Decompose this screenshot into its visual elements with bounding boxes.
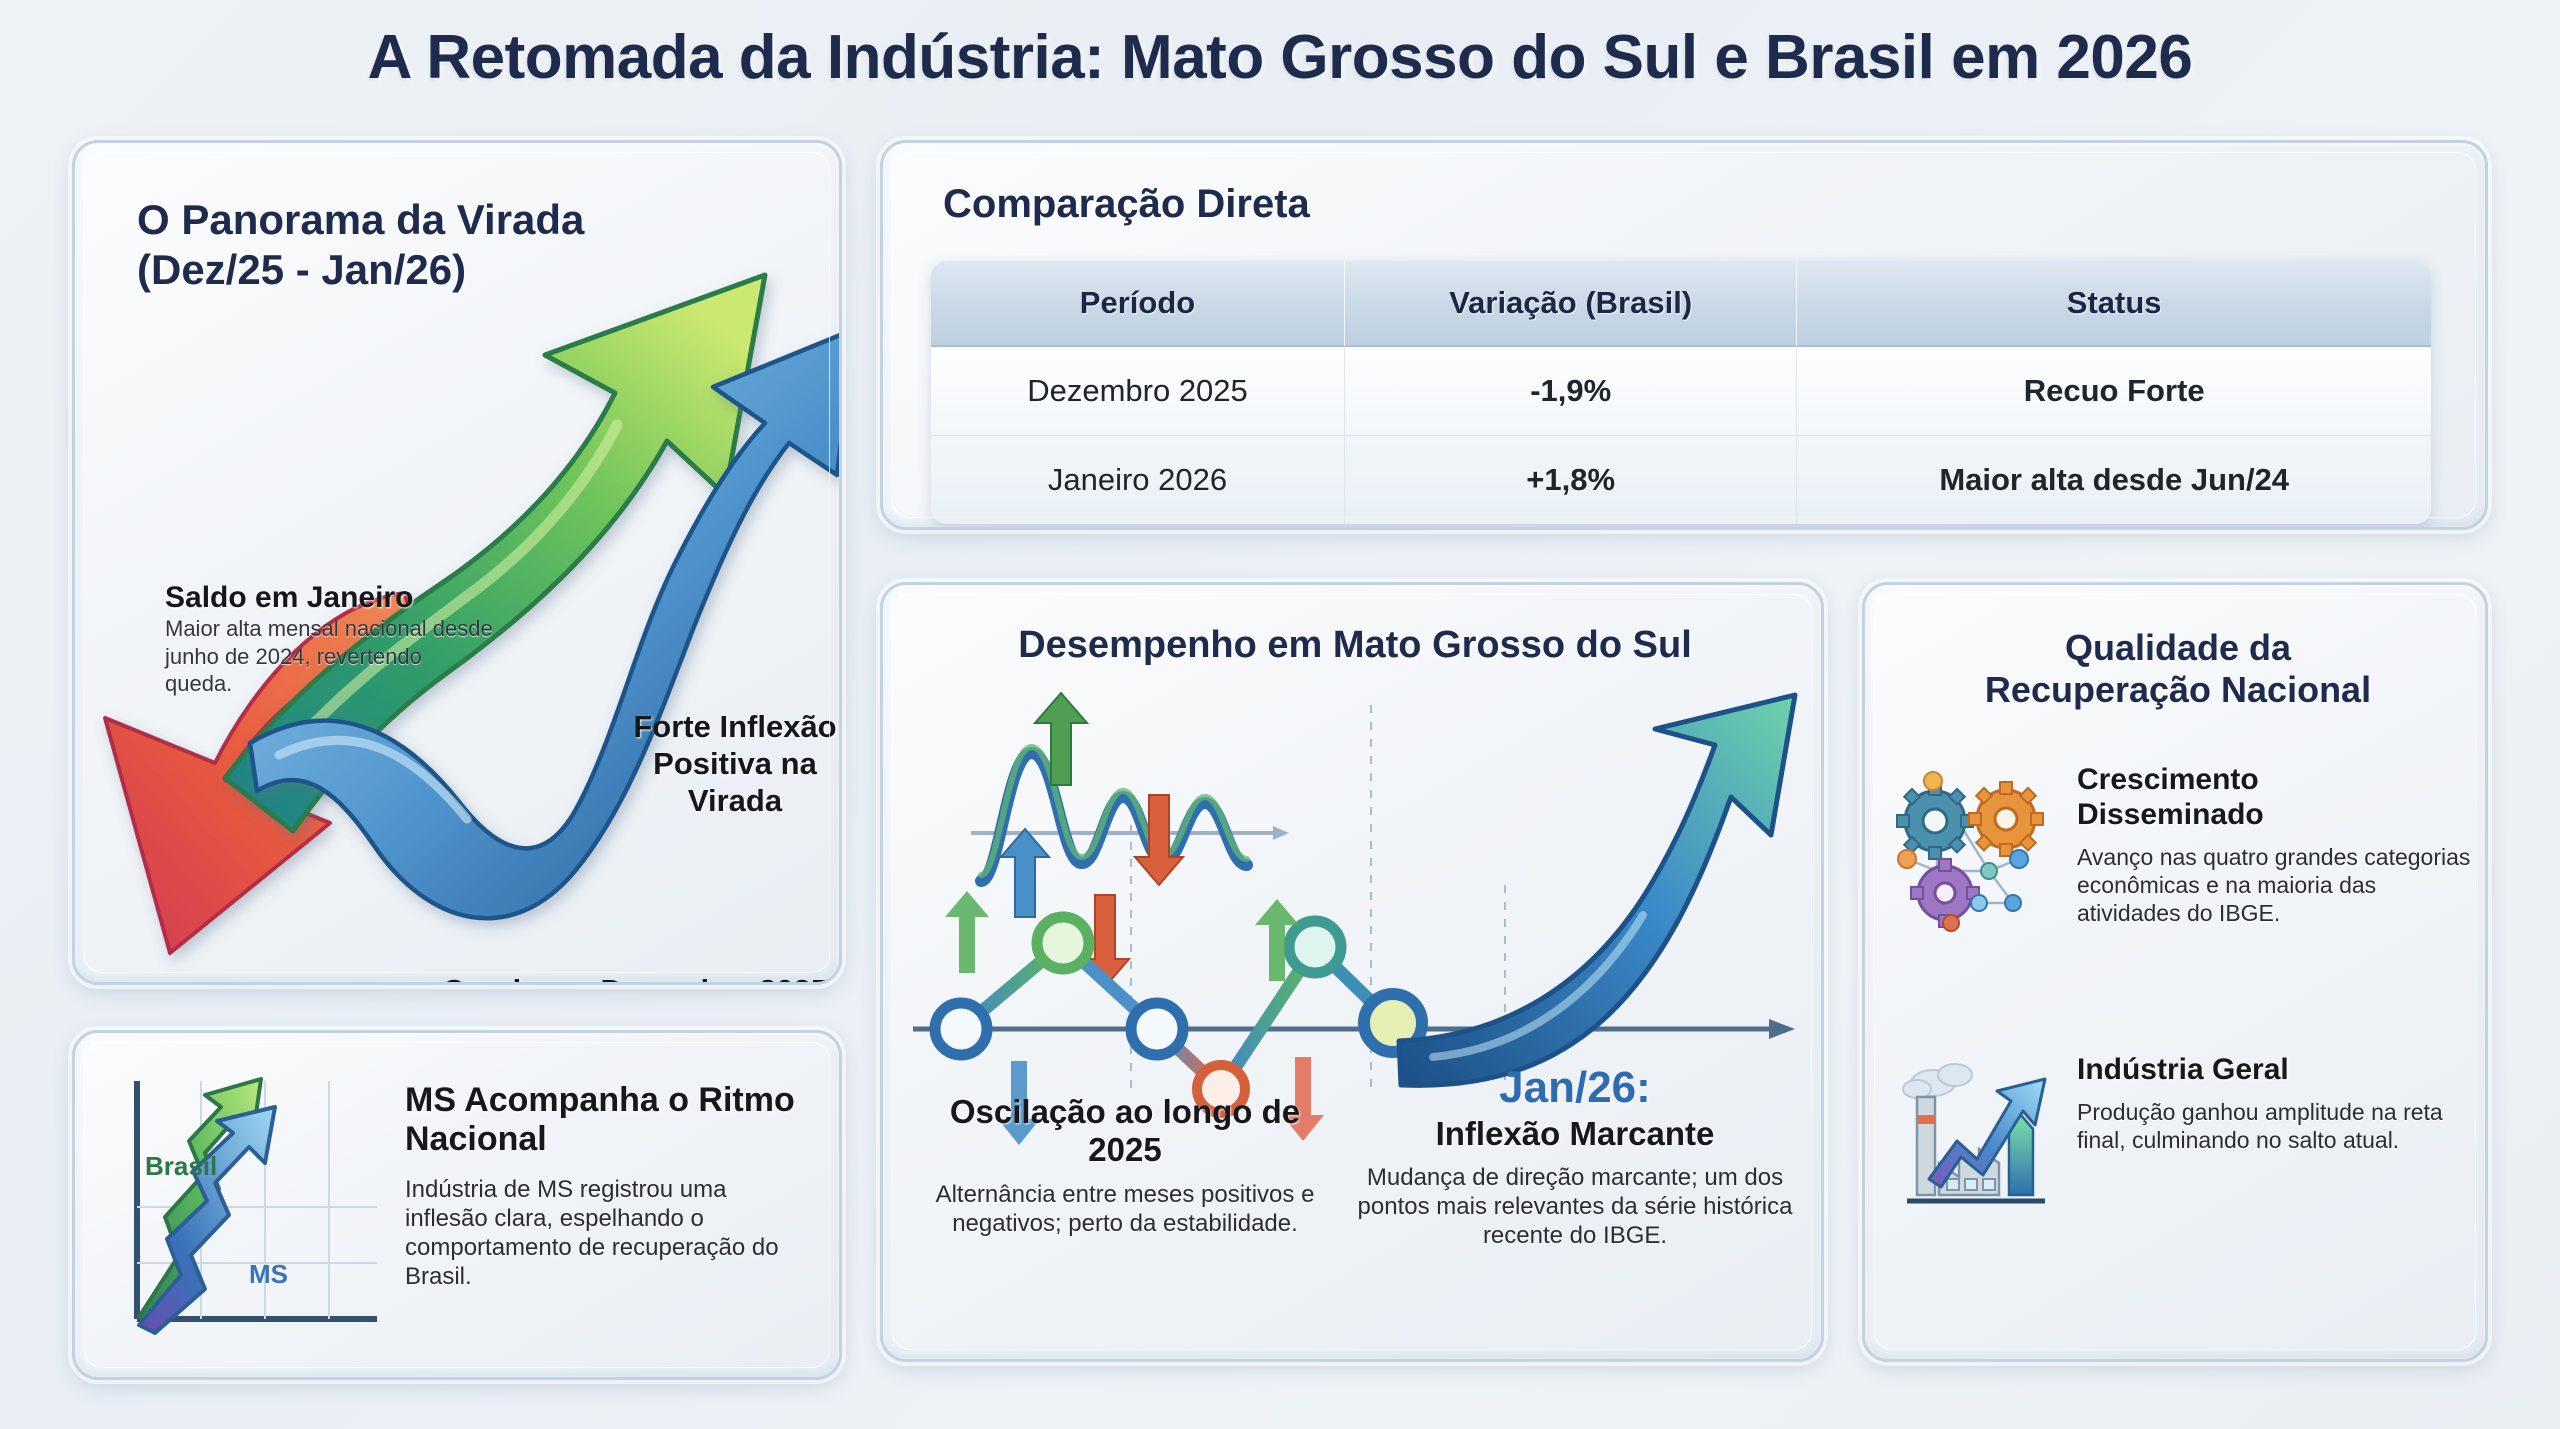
caption-saldo-heading: Saldo em Janeiro — [165, 581, 495, 615]
acompanha-chart-svg: Brasil MS — [109, 1067, 389, 1349]
qualidade-item-2-heading: Indústria Geral — [2077, 1053, 2473, 1088]
desempenho-ms-title: Desempenho em Mato Grosso do Sul — [883, 623, 1824, 668]
chart-data-points — [935, 917, 1422, 1113]
factory-windows — [1947, 1179, 1995, 1190]
panel-ms-acompanha-ritmo: Brasil MS MS Acompanha o Ritmo Nacional … — [72, 1030, 842, 1380]
smoke-cloud-icon — [1903, 1064, 1972, 1098]
caption-queda-heading: Queda em Dezembro 2025 — [385, 973, 842, 985]
qualidade-item-1-text: Crescimento Disseminado Avanço nas quatr… — [2077, 763, 2473, 927]
panorama-title-line1: O Panorama da Virada — [137, 196, 584, 243]
column-header-status: Status — [1797, 261, 2431, 347]
cell-variacao: -1,9% — [1345, 347, 1797, 436]
ms-inflexao-text: Mudança de direção marcante; um dos pont… — [1351, 1163, 1799, 1251]
ms-oscilacao-text: Alternância entre meses positivos e nega… — [915, 1180, 1335, 1239]
qualidade-title-line2: Recuperação Nacional — [1985, 669, 2371, 710]
gears-network-svg — [1893, 763, 2063, 933]
acompanha-text-block: MS Acompanha o Ritmo Nacional Indústria … — [405, 1081, 805, 1292]
qualidade-item-1-heading: Crescimento Disseminado — [2077, 763, 2473, 833]
gear-orange — [1969, 782, 2043, 856]
qualidade-item-1-body: Avanço nas quatro grandes categorias eco… — [2077, 843, 2473, 927]
cell-periodo: Dezembro 2025 — [931, 347, 1345, 436]
panel-panorama-da-virada: O Panorama da Virada (Dez/25 - Jan/26) — [72, 140, 842, 985]
ms-oscilacao-heading: Oscilação ao longo de 2025 — [915, 1093, 1335, 1168]
qualidade-item-industria-geral: Indústria Geral Produção ganhou amplitud… — [1893, 1053, 2473, 1223]
factory-growth-svg — [1893, 1053, 2063, 1223]
acompanha-text: Indústria de MS registrou uma inflesão c… — [405, 1175, 805, 1292]
chimney-stripe — [1917, 1115, 1935, 1124]
factory-growth-icon — [1893, 1053, 2063, 1223]
table-header-row: Período Variação (Brasil) Status — [931, 261, 2431, 347]
comparacao-title: Comparação Direta — [943, 181, 1310, 228]
panel-desempenho-ms: Desempenho em Mato Grosso do Sul — [880, 582, 1824, 1362]
caption-queda-dezembro: Queda em Dezembro 2025 Recuo relevante n… — [385, 973, 842, 985]
caption-forte-inflexao: Forte Inflexão Positiva na Virada — [605, 708, 842, 820]
qualidade-item-2-body: Produção ganhou amplitude na reta final,… — [2077, 1098, 2473, 1154]
qualidade-item-1-heading-l1: Crescimento — [2077, 763, 2259, 796]
qualidade-item-2-text: Indústria Geral Produção ganhou amplitud… — [2077, 1053, 2473, 1154]
ms-inflexao-heading: Inflexão Marcante — [1351, 1115, 1799, 1153]
cell-periodo: Janeiro 2026 — [931, 436, 1345, 524]
table-row: Dezembro 2025 -1,9% Recuo Forte — [931, 347, 2431, 436]
column-header-variacao: Variação (Brasil) — [1345, 261, 1797, 347]
panel-qualidade-recuperacao: Qualidade da Recuperação Nacional — [1862, 582, 2488, 1362]
gears-network-icon — [1893, 763, 2063, 933]
legend-label-brasil: Brasil — [145, 1151, 217, 1181]
panel-comparacao-direta: Comparação Direta Período Variação (Bras… — [880, 140, 2488, 530]
qualidade-title-line1: Qualidade da — [2065, 627, 2291, 668]
cell-variacao: +1,8% — [1345, 436, 1797, 524]
ms-caption-inflexao: Jan/26: Inflexão Marcante Mudança de dir… — [1351, 1063, 1799, 1250]
comparacao-table: Período Variação (Brasil) Status Dezembr… — [931, 261, 2431, 524]
caption-saldo-em-janeiro: Saldo em Janeiro Maior alta mensal nacio… — [165, 581, 495, 698]
caption-inflexao-heading: Forte Inflexão Positiva na Virada — [605, 708, 842, 820]
qualidade-item-crescimento: Crescimento Disseminado Avanço nas quatr… — [1893, 763, 2473, 933]
caption-saldo-text: Maior alta mensal nacional desde junho d… — [165, 615, 495, 698]
qualidade-item-1-heading-l2: Disseminado — [2077, 798, 2264, 831]
acompanha-dual-line-chart: Brasil MS — [109, 1067, 389, 1349]
acompanha-heading: MS Acompanha o Ritmo Nacional — [405, 1081, 805, 1159]
legend-label-ms: MS — [249, 1259, 288, 1289]
ms-jan26-badge: Jan/26: — [1351, 1063, 1799, 1113]
cell-status: Maior alta desde Jun/24 — [1797, 436, 2431, 524]
ms-caption-oscilacao: Oscilação ao longo de 2025 Alternância e… — [915, 1093, 1335, 1239]
cell-status: Recuo Forte — [1797, 347, 2431, 436]
column-header-periodo: Período — [931, 261, 1345, 347]
qualidade-title: Qualidade da Recuperação Nacional — [1865, 627, 2488, 712]
page-title: A Retomada da Indústria: Mato Grosso do … — [0, 22, 2560, 93]
gear-teal — [1897, 783, 1973, 859]
table-row: Janeiro 2026 +1,8% Maior alta desde Jun/… — [931, 436, 2431, 524]
ms-chart-svg — [903, 685, 1813, 1105]
ms-line-chart-illustration — [903, 685, 1813, 1105]
chart-axis — [913, 1019, 1795, 1039]
